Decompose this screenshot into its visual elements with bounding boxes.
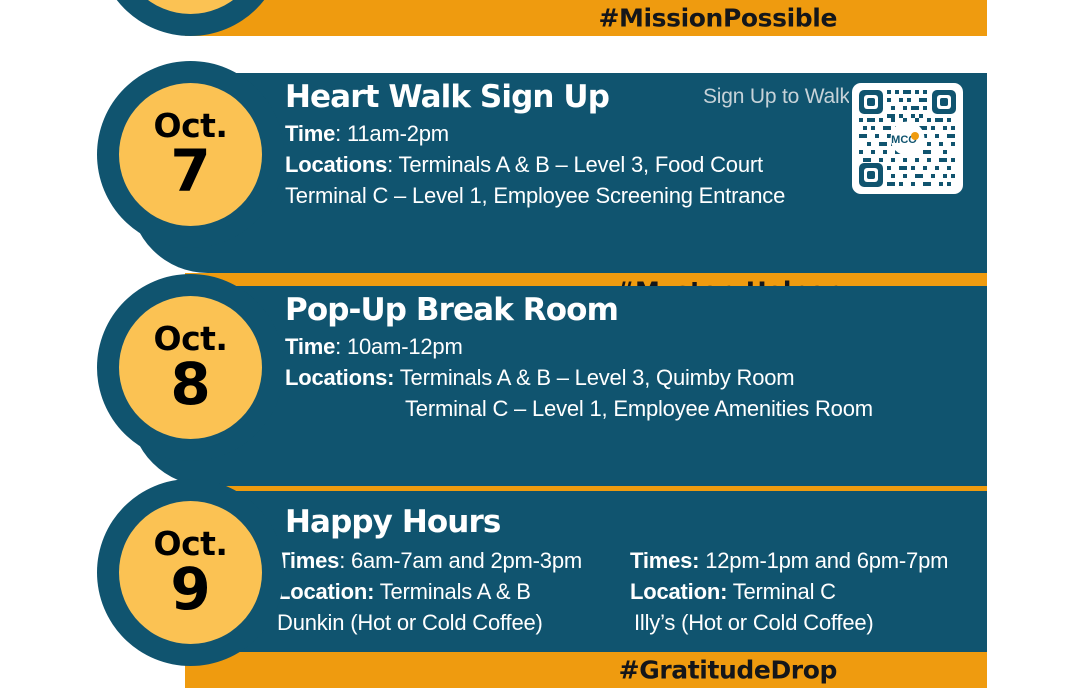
detail-value: 12pm-1pm and 6pm-7pm bbox=[705, 548, 948, 573]
date-disc[interactable]: Oct. 7 bbox=[119, 83, 262, 226]
qr-code-svg: MCO bbox=[849, 80, 966, 197]
card-detail-line: Location: Terminals A & B bbox=[277, 579, 531, 605]
detail-label: Location: bbox=[630, 579, 727, 604]
detail-value: 10am-12pm bbox=[347, 334, 463, 359]
card-detail-line: Time: 10am-12pm bbox=[285, 334, 463, 360]
qr-logo-dot bbox=[911, 132, 919, 140]
card-detail-line: Terminal C – Level 1, Employee Screening… bbox=[285, 183, 785, 209]
card-title: Happy Hours bbox=[285, 504, 500, 540]
date-disc[interactable]: Oct. 9 bbox=[119, 501, 262, 644]
detail-label: Times: bbox=[630, 548, 699, 573]
detail-label: Time bbox=[285, 121, 335, 146]
date-day: 8 bbox=[170, 357, 210, 412]
card-detail-line: Locations: Terminals A & B – Level 3, Fo… bbox=[285, 152, 763, 178]
card-title: Pop-Up Break Room bbox=[285, 292, 618, 328]
detail-label: Locations: bbox=[285, 365, 394, 390]
card-title: Heart Walk Sign Up bbox=[285, 79, 609, 115]
detail-value: Terminals A & B – Level 3, Quimby Room bbox=[400, 365, 795, 390]
detail-sep: : bbox=[387, 152, 398, 177]
detail-label: Time bbox=[285, 334, 335, 359]
detail-value: Dunkin (Hot or Cold Coffee) bbox=[277, 610, 543, 635]
card-detail-line: Illy’s (Hot or Cold Coffee) bbox=[634, 610, 874, 636]
card-detail-line: Locations: Terminals A & B – Level 3, Qu… bbox=[285, 365, 794, 391]
hashtag-bar: #MissionPossible bbox=[185, 0, 987, 36]
hashtag-label: #MissionPossible bbox=[598, 4, 837, 33]
detail-sep: : bbox=[339, 548, 351, 573]
detail-value: Terminals A & B bbox=[380, 579, 531, 604]
detail-label: Locations bbox=[285, 152, 387, 177]
qr-code-icon[interactable]: MCO bbox=[849, 80, 966, 197]
date-disc[interactable]: Oct. 8 bbox=[119, 296, 262, 439]
card-detail-line: Terminal C – Level 1, Employee Amenities… bbox=[405, 396, 873, 422]
card-detail-line: Location: Terminal C bbox=[630, 579, 836, 605]
hashtag-label: #GratitudeDrop bbox=[619, 656, 837, 685]
date-day: 9 bbox=[170, 562, 210, 617]
date-day: 7 bbox=[170, 144, 210, 199]
detail-value: 11am-2pm bbox=[347, 121, 449, 146]
detail-value: Terminal C bbox=[733, 579, 836, 604]
detail-value: Terminals A & B – Level 3, Food Court bbox=[399, 152, 763, 177]
detail-label: Location: bbox=[277, 579, 374, 604]
detail-value: Terminal C – Level 1, Employee Amenities… bbox=[405, 396, 873, 421]
card-detail-line: Times: 12pm-1pm and 6pm-7pm bbox=[630, 548, 948, 574]
detail-value: 6am-7am and 2pm-3pm bbox=[351, 548, 582, 573]
detail-sep: : bbox=[335, 121, 347, 146]
card-detail-line: Times: 6am-7am and 2pm-3pm bbox=[277, 548, 582, 574]
qr-caption: Sign Up to Walk bbox=[703, 85, 850, 109]
detail-label: Times bbox=[277, 548, 339, 573]
detail-sep: : bbox=[335, 334, 347, 359]
flyer-canvas: #MissionPossible #MysteryHelper Heart Wa… bbox=[0, 0, 1080, 675]
card-detail-line: Dunkin (Hot or Cold Coffee) bbox=[277, 610, 543, 636]
detail-value: Terminal C – Level 1, Employee Screening… bbox=[285, 183, 785, 208]
hashtag-bar: #GratitudeDrop bbox=[185, 652, 987, 688]
card-detail-line: Time: 11am-2pm bbox=[285, 121, 449, 147]
detail-value: Illy’s (Hot or Cold Coffee) bbox=[634, 610, 874, 635]
